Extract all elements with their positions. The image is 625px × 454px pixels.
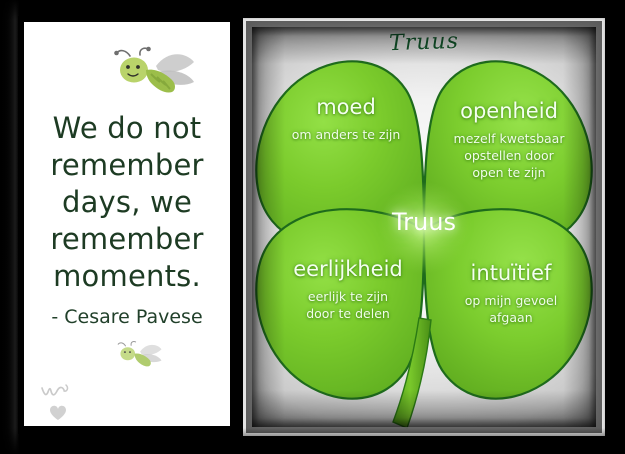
dragonfly-icon — [106, 46, 202, 102]
leaf-subtitle-line: door te delen — [263, 305, 433, 322]
quote-line: remember — [24, 147, 230, 184]
quote-author: - Cesare Pavese — [24, 306, 230, 328]
leaf-title: eerlijkheid — [263, 256, 433, 282]
quote-line: moments. — [24, 258, 230, 295]
clover-panel: Truus moed om anders te zijn openheid me… — [243, 18, 605, 436]
quote-line: remember — [24, 221, 230, 258]
leaf-title: openheid — [429, 98, 589, 124]
leaf-subtitle-line: afgaan — [433, 309, 589, 326]
leaf-subtitle-line: eerlijk te zijn — [263, 288, 433, 305]
leaf-label-openheid: openheid mezelf kwetsbaar opstellen door… — [429, 98, 589, 181]
leaf-title: intuïtief — [433, 260, 589, 286]
image-canvas: We do not remember days, we remember mom… — [0, 0, 625, 454]
dragonfly-icon — [112, 340, 166, 372]
quote-line: days, we — [24, 184, 230, 221]
leaf-title: moed — [271, 94, 421, 120]
leaf-label-intuitief: intuïtief op mijn gevoel afgaan — [433, 260, 589, 326]
leaf-subtitle-line: opstellen door — [429, 147, 589, 164]
quote-card-inner: We do not remember days, we remember mom… — [24, 22, 230, 426]
leaf-label-eerlijkheid: eerlijkheid eerlijk te zijn door te dele… — [263, 256, 433, 322]
leaf-subtitle-line: mezelf kwetsbaar — [429, 130, 589, 147]
leaf-subtitle-line: op mijn gevoel — [433, 292, 589, 309]
signature-mark — [36, 380, 90, 426]
clover-center-label: Truus — [243, 208, 605, 236]
quote-card: We do not remember days, we remember mom… — [24, 22, 230, 426]
leaf-label-moed: moed om anders te zijn — [271, 94, 421, 143]
quote-line: We do not — [24, 110, 230, 147]
quote-text: We do not remember days, we remember mom… — [24, 110, 230, 295]
leaf-subtitle-line: open te zijn — [429, 164, 589, 181]
leaf-subtitle-line: om anders te zijn — [271, 126, 421, 143]
